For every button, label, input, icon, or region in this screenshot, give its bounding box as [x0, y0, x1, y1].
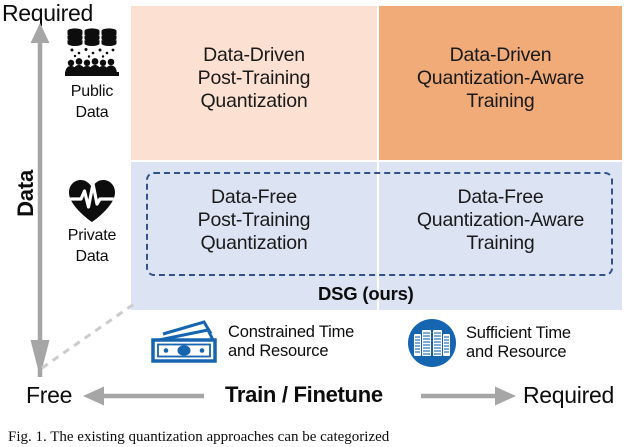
category-public-data: Public Data [57, 26, 127, 122]
resource-sufficient-line1: Sufficient Time [466, 324, 571, 344]
resource-constrained-line2: and Resource [228, 342, 354, 362]
dsg-highlight-box [146, 172, 613, 276]
quadrant-top-left-line1: Data-Driven [131, 44, 377, 67]
resource-constrained-line1: Constrained Time [228, 323, 354, 343]
category-private-data: Private Data [57, 178, 127, 266]
quadrant-top-left: Data-Driven Post-Training Quantization [131, 6, 377, 160]
category-private-data-line2: Data [57, 247, 127, 266]
datacenter-buildings-icon [406, 317, 458, 369]
quadrant-top-right-line2: Quantization-Aware [379, 67, 622, 90]
right-arrow-icon [419, 383, 519, 409]
diagonal-dashed-line-icon [38, 300, 148, 372]
quadrant-top-left-line3: Quantization [131, 90, 377, 113]
category-public-data-line2: Data [57, 103, 127, 122]
figure-caption: Fig. 1. The existing quantization approa… [8, 428, 632, 447]
quadrant-top-right-line1: Data-Driven [379, 44, 622, 67]
category-private-data-line1: Private [57, 226, 127, 245]
left-arrow-icon [80, 383, 208, 409]
quadrant-top-right-line3: Training [379, 90, 622, 113]
category-public-data-line1: Public [57, 82, 127, 101]
x-axis-right-label: Required [523, 382, 614, 409]
resource-constrained: Constrained Time and Resource [150, 320, 354, 364]
resource-sufficient: Sufficient Time and Resource [406, 317, 571, 369]
y-axis-bottom-label: Free [26, 382, 72, 409]
x-axis-title: Train / Finetune [225, 382, 383, 408]
heart-pulse-icon [67, 178, 117, 224]
quadrant-top-right: Data-Driven Quantization-Aware Training [379, 6, 622, 160]
quantization-taxonomy-figure: Data-Driven Post-Training Quantization D… [0, 0, 640, 445]
dsg-highlight-label: DSG (ours) [318, 283, 414, 305]
resource-sufficient-line2: and Resource [466, 343, 571, 363]
database-crowd-icon [65, 26, 119, 80]
quadrant-top-left-line2: Post-Training [131, 67, 377, 90]
money-cash-icon [150, 320, 220, 364]
